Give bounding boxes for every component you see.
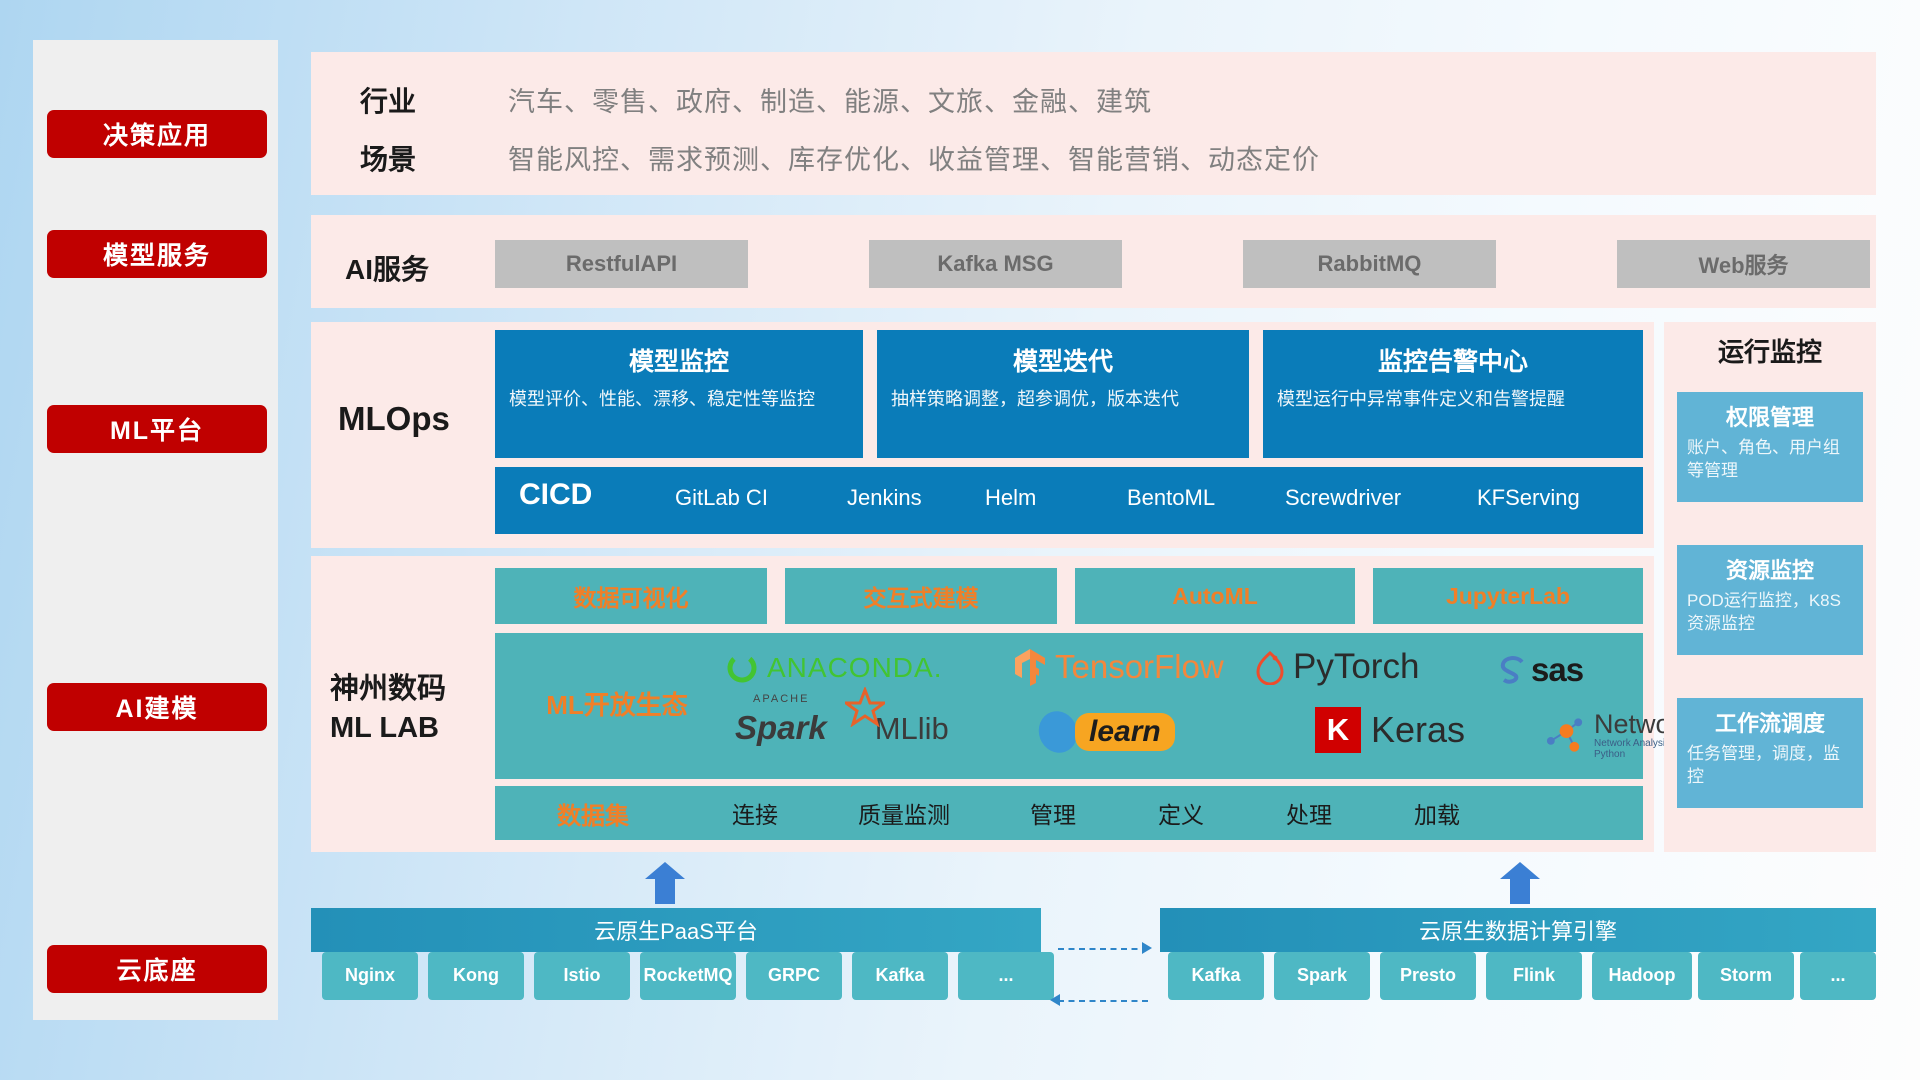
logo-pytorch: PyTorch <box>1255 647 1419 687</box>
scikit-learn-wordmark-pill: learn <box>1075 713 1175 751</box>
ml-lab-label-line1: 神州数码 <box>330 670 446 709</box>
pytorch-wordmark: PyTorch <box>1293 647 1419 687</box>
dataset-bar: 数据集 连接 质量监测 管理 定义 处理 加载 <box>495 786 1643 840</box>
modeling-tool-automl[interactable]: AutoML <box>1075 568 1355 624</box>
applications-scenario-label: 场景 <box>360 138 416 178</box>
cicd-item-helm[interactable]: Helm <box>985 484 1103 512</box>
dash-arrowhead-left <box>1050 994 1060 1006</box>
monitoring-card-desc: POD运行监控，K8S资源监控 <box>1687 590 1853 636</box>
rail-item-ai-modeling[interactable]: AI建模 <box>47 683 267 731</box>
dash-connector-left <box>1058 1000 1148 1002</box>
dash-connector-right <box>1058 948 1148 950</box>
spark-tagline: APACHE <box>753 693 809 705</box>
tensorflow-wordmark: TensorFlow <box>1055 648 1224 686</box>
arrow-paas-to-modeling <box>645 862 685 904</box>
compute-chip-kafka[interactable]: Kafka <box>1168 952 1264 1000</box>
mlops-card-desc: 模型运行中异常事件定义和告警提醒 <box>1277 387 1629 411</box>
monitoring-card-workflow[interactable]: 工作流调度 任务管理，调度，监控 <box>1677 698 1863 808</box>
mlops-card-alert-center[interactable]: 监控告警中心 模型运行中异常事件定义和告警提醒 <box>1263 330 1643 458</box>
mlops-card-model-monitoring[interactable]: 模型监控 模型评价、性能、漂移、稳定性等监控 <box>495 330 863 458</box>
pytorch-icon <box>1255 649 1285 685</box>
compute-chip-hadoop[interactable]: Hadoop <box>1592 952 1692 1000</box>
paas-chip-rocketmq[interactable]: RocketMQ <box>640 952 736 1000</box>
mlops-label: MLOps <box>338 400 450 438</box>
ai-service-chip-kafka-msg[interactable]: Kafka MSG <box>869 240 1122 288</box>
architecture-diagram: 决策应用 模型服务 ML平台 AI建模 云底座 行业 汽车、零售、政府、制造、能… <box>0 0 1920 1080</box>
rail-item-cloud-base[interactable]: 云底座 <box>47 945 267 993</box>
mlops-card-title: 模型监控 <box>509 342 849 378</box>
dash-arrowhead-right <box>1142 942 1152 954</box>
sas-wordmark: sas <box>1531 651 1583 689</box>
modeling-tool-interactive-modeling[interactable]: 交互式建模 <box>785 568 1057 624</box>
mllib-wordmark: MLlib <box>875 711 949 747</box>
monitoring-title: 运行监控 <box>1664 332 1876 369</box>
monitoring-card-desc: 账户、角色、用户组等管理 <box>1687 437 1853 483</box>
ml-lab-label: 神州数码 ML LAB <box>330 670 446 748</box>
compute-chip-spark[interactable]: Spark <box>1274 952 1370 1000</box>
logo-tensorflow: TensorFlow <box>1011 647 1224 687</box>
dataset-item-connect[interactable]: 连接 <box>691 796 819 830</box>
ai-service-chip-restfulapi[interactable]: RestfulAPI <box>495 240 748 288</box>
compute-chip-presto[interactable]: Presto <box>1380 952 1476 1000</box>
modeling-tool-jupyterlab[interactable]: JupyterLab <box>1373 568 1643 624</box>
cicd-item-bentoml[interactable]: BentoML <box>1127 484 1245 512</box>
cicd-bar: CICD GitLab CI Jenkins Helm BentoML Scre… <box>495 467 1643 534</box>
mlops-card-desc: 抽样策略调整，超参调优，版本迭代 <box>891 387 1235 411</box>
ml-ecosystem-label: ML开放生态 <box>517 685 717 722</box>
monitoring-card-permission[interactable]: 权限管理 账户、角色、用户组等管理 <box>1677 392 1863 502</box>
rail-item-ml-platform[interactable]: ML平台 <box>47 405 267 453</box>
dataset-item-process[interactable]: 处理 <box>1245 796 1373 830</box>
rail-item-model-service[interactable]: 模型服务 <box>47 230 267 278</box>
monitoring-card-title: 工作流调度 <box>1687 706 1853 738</box>
keras-icon-letter: K <box>1327 712 1349 748</box>
logo-sas: sas <box>1495 651 1583 689</box>
layer-rail <box>33 40 278 1020</box>
paas-chip-kafka[interactable]: Kafka <box>852 952 948 1000</box>
cicd-title: CICD <box>519 478 592 512</box>
ml-ecosystem-panel: ML开放生态 ANACONDA. TensorFlow PyTorch <box>495 633 1643 779</box>
cicd-item-jenkins[interactable]: Jenkins <box>847 484 965 512</box>
monitoring-card-desc: 任务管理，调度，监控 <box>1687 743 1853 789</box>
modeling-tool-data-visualization[interactable]: 数据可视化 <box>495 568 767 624</box>
mlops-card-title: 模型迭代 <box>891 342 1235 378</box>
spark-wordmark: Spark <box>735 709 827 746</box>
ai-service-chip-rabbitmq[interactable]: RabbitMQ <box>1243 240 1496 288</box>
mlops-card-model-iteration[interactable]: 模型迭代 抽样策略调整，超参调优，版本迭代 <box>877 330 1249 458</box>
applications-industry-label: 行业 <box>360 80 416 120</box>
dataset-item-quality-monitoring[interactable]: 质量监测 <box>819 796 989 830</box>
keras-wordmark: Keras <box>1371 709 1465 751</box>
compute-chip-more[interactable]: ... <box>1800 952 1876 1000</box>
keras-icon: K <box>1315 707 1361 753</box>
anaconda-wordmark: ANACONDA. <box>767 652 942 684</box>
paas-chip-kong[interactable]: Kong <box>428 952 524 1000</box>
paas-chip-grpc[interactable]: GRPC <box>746 952 842 1000</box>
paas-chip-istio[interactable]: Istio <box>534 952 630 1000</box>
logo-scikit-learn: learn <box>1035 709 1175 755</box>
networkx-graph-icon <box>1543 715 1588 757</box>
scikit-learn-wordmark: learn <box>1089 715 1161 748</box>
dataset-label: 数据集 <box>495 796 691 831</box>
mlops-card-title: 监控告警中心 <box>1277 342 1629 378</box>
ml-lab-label-line2: ML LAB <box>330 709 446 748</box>
paas-platform-bar[interactable]: 云原生PaaS平台 <box>311 908 1041 952</box>
dataset-item-define[interactable]: 定义 <box>1117 796 1245 830</box>
cicd-item-screwdriver[interactable]: Screwdriver <box>1285 484 1403 512</box>
paas-chip-more[interactable]: ... <box>958 952 1054 1000</box>
dataset-item-load[interactable]: 加载 <box>1373 796 1501 830</box>
arrow-compute-to-modeling <box>1500 862 1540 904</box>
dataset-item-manage[interactable]: 管理 <box>989 796 1117 830</box>
cicd-item-kfserving[interactable]: KFServing <box>1477 484 1595 512</box>
applications-industry-value: 汽车、零售、政府、制造、能源、文旅、金融、建筑 <box>508 80 1152 119</box>
applications-scenario-value: 智能风控、需求预测、库存优化、收益管理、智能营销、动态定价 <box>508 138 1320 177</box>
spark-star-icon <box>845 687 885 727</box>
ai-service-chip-web-service[interactable]: Web服务 <box>1617 240 1870 288</box>
anaconda-icon <box>725 651 759 685</box>
logo-anaconda: ANACONDA. <box>725 651 942 685</box>
ai-service-label: AI服务 <box>345 248 429 288</box>
compute-chip-flink[interactable]: Flink <box>1486 952 1582 1000</box>
monitoring-card-title: 资源监控 <box>1687 553 1853 585</box>
logo-spark-mllib: APACHE Spark MLlib <box>735 709 949 747</box>
rail-item-decision-app[interactable]: 决策应用 <box>47 110 267 158</box>
monitoring-card-title: 权限管理 <box>1687 400 1853 432</box>
sas-icon <box>1495 653 1529 687</box>
logo-keras: K Keras <box>1315 707 1465 753</box>
paas-chip-nginx[interactable]: Nginx <box>322 952 418 1000</box>
mlops-card-desc: 模型评价、性能、漂移、稳定性等监控 <box>509 387 849 411</box>
tensorflow-icon <box>1011 647 1049 687</box>
compute-chip-storm[interactable]: Storm <box>1698 952 1794 1000</box>
compute-engine-bar[interactable]: 云原生数据计算引擎 <box>1160 908 1876 952</box>
monitoring-card-resource[interactable]: 资源监控 POD运行监控，K8S资源监控 <box>1677 545 1863 655</box>
cicd-item-gitlab-ci[interactable]: GitLab CI <box>675 484 793 512</box>
